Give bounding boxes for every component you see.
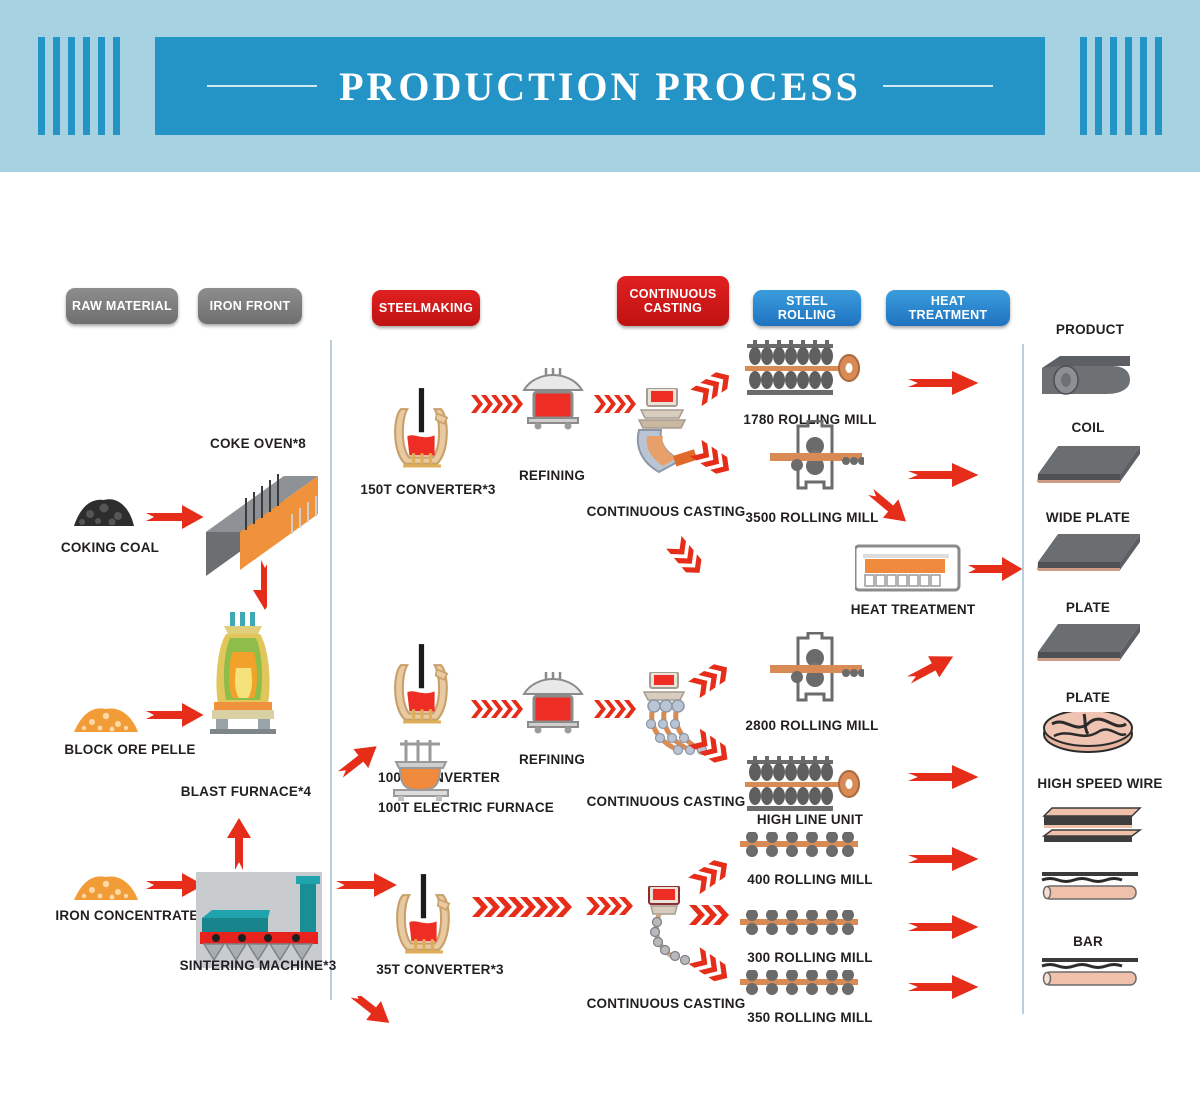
product-wide-plate-icon (1036, 444, 1144, 491)
arrow-iron-to-35t-converter (336, 996, 398, 1063)
chevrons-caster3-to-400 (686, 848, 740, 903)
stage-pill-raw-material[interactable]: RAW MATERIAL (66, 288, 178, 324)
product-bar-icon-1 (1040, 872, 1142, 907)
header-stripe (83, 37, 90, 135)
stage-label: IRON FRONT (210, 299, 291, 313)
product-coil-icon (1038, 354, 1134, 403)
electric-furnace-100t-label: 100T ELECTRIC FURNACE (378, 800, 554, 815)
converter-35t-label: 35T CONVERTER*3 (376, 962, 504, 977)
process-diagram: RAW MATERIAL IRON FRONT STEELMAKING CONT… (0, 172, 1200, 1110)
product-plate-label-2: PLATE (1066, 690, 1110, 705)
stage-label-line1: CONTINUOUS (629, 287, 716, 301)
product-bar-icon-2 (1040, 958, 1142, 993)
stage-label-line2: CASTING (644, 301, 702, 315)
refining-top-icon (522, 368, 586, 439)
product-heading: PRODUCT (1056, 322, 1124, 337)
rolling-mill-300-label: 300 ROLLING MILL (747, 950, 872, 965)
product-bar-label: BAR (1073, 934, 1103, 949)
chevrons-caster3-to-350 (686, 942, 742, 1001)
product-plate-icon-2 (1036, 622, 1144, 669)
arrow-300-to-bar (908, 912, 980, 947)
arrow-1780-to-coil (908, 368, 980, 403)
refining-mid-icon (522, 672, 586, 743)
arrow-400-to-billet (908, 844, 980, 879)
page-title: PRODUCTION PROCESS (339, 63, 861, 110)
coke-oven-label: COKE OVEN*8 (210, 436, 306, 451)
product-high-speed-wire-label: HIGH SPEED WIRE (1037, 776, 1162, 791)
converter-150t-icon (390, 386, 454, 473)
electric-furnace-100t-icon (392, 740, 454, 809)
continuous-casting-label-2: CONTINUOUS CASTING (587, 794, 746, 809)
continuous-casting-label-1: CONTINUOUS CASTING (587, 504, 746, 519)
header-stripe (38, 37, 45, 135)
title-rule-right (883, 85, 993, 87)
arrow-3500-to-heat-treatment (862, 484, 926, 549)
refining-top-label: REFINING (519, 468, 585, 483)
heat-treatment-icon (855, 544, 963, 601)
arrow-2800-to-plate (905, 634, 973, 699)
stage-pill-steel-rolling[interactable]: STEEL ROLLING (753, 290, 861, 326)
rolling-mill-350-label: 350 ROLLING MILL (747, 1010, 872, 1025)
header-stripes-right (1080, 37, 1162, 135)
blast-furnace-label: BLAST FURNACE*4 (181, 784, 312, 799)
header-stripe (1095, 37, 1102, 135)
converter-35t-icon (392, 872, 456, 959)
header-stripe (98, 37, 105, 135)
arrow-iron-to-electric-furnace (336, 870, 398, 905)
chevrons-35t-out (472, 896, 584, 923)
product-coil-label: COIL (1071, 420, 1104, 435)
stage-pill-continuous-casting[interactable]: CONTINUOUS CASTING (617, 276, 729, 326)
page-header: PRODUCTION PROCESS (0, 0, 1200, 172)
converter-150t-label: 150T CONVERTER*3 (360, 482, 495, 497)
header-stripe (68, 37, 75, 135)
header-stripes-left (38, 37, 120, 135)
rolling-mill-350-icon (740, 970, 866, 1003)
high-line-unit-label: HIGH LINE UNIT (757, 812, 863, 827)
block-ore-pelle-label: BLOCK ORE PELLE (64, 742, 195, 757)
chevrons-caster3-to-300 (689, 904, 741, 931)
header-stripe (1155, 37, 1162, 135)
rolling-mill-2800-label: 2800 ROLLING MILL (745, 718, 878, 733)
divider-product (1022, 344, 1024, 1014)
header-stripe (53, 37, 60, 135)
product-billet-icon (1040, 806, 1144, 851)
divider-raw-steelmaking (330, 340, 332, 1000)
chevrons-caster2-to-2800 (686, 652, 740, 707)
title-rule-left (207, 85, 317, 87)
blast-furnace-icon (208, 612, 278, 743)
chevrons-35t-to-caster3 (586, 896, 638, 921)
product-wide-plate-label: WIDE PLATE (1046, 510, 1130, 525)
header-stripe (1140, 37, 1147, 135)
header-title-bar: PRODUCTION PROCESS (155, 37, 1045, 135)
chevrons-row2-to-refining (471, 699, 527, 724)
block-ore-pelle-icon (72, 700, 142, 743)
arrow-ore-to-blastfurnace (146, 700, 204, 735)
header-stripe (1125, 37, 1132, 135)
rolling-mill-3500-icon (768, 420, 864, 501)
arrow-sinter-to-blastfurnace (224, 808, 256, 875)
chevrons-150t-to-refining (471, 394, 527, 419)
sintering-machine-label: SINTERING MACHINE*3 (180, 958, 337, 973)
chevrons-caster1-to-3500 (688, 434, 742, 493)
rolling-mill-400-icon (740, 832, 866, 865)
product-plate-icon-1 (1036, 532, 1144, 579)
rolling-mill-2800-icon (768, 632, 864, 713)
iron-concentrate-icon (72, 868, 142, 911)
rolling-mill-400-label: 400 ROLLING MILL (747, 872, 872, 887)
product-plate-label-1: PLATE (1066, 600, 1110, 615)
stage-pill-steelmaking[interactable]: STEELMAKING (372, 290, 480, 326)
rolling-mill-1780-icon (745, 340, 869, 405)
coking-coal-icon (72, 492, 140, 537)
product-high-speed-wire-icon (1042, 712, 1136, 761)
header-stripe (1080, 37, 1087, 135)
stage-label: STEEL ROLLING (759, 294, 855, 323)
stage-label: HEAT TREATMENT (892, 294, 1004, 323)
arrow-coal-to-oven (146, 502, 204, 537)
header-stripe (113, 37, 120, 135)
coking-coal-label: COKING COAL (61, 540, 159, 555)
stage-label: RAW MATERIAL (72, 299, 172, 313)
header-stripe (1110, 37, 1117, 135)
iron-concentrate-label: IRON CONCENTRATE (55, 908, 198, 923)
stage-label: STEELMAKING (379, 301, 473, 315)
arrow-heat-treatment-to-plate (968, 554, 1024, 589)
converter-100t-icon (390, 642, 454, 729)
rolling-mill-3500-label: 3500 ROLLING MILL (745, 510, 878, 525)
chevrons-caster1-to-1780 (688, 360, 742, 415)
chevrons-caster2-to-high-line (686, 724, 744, 783)
arrow-350-to-bar-2 (908, 972, 980, 1007)
rolling-mill-300-icon (740, 910, 866, 943)
chevrons-caster1-to-heat-line (660, 530, 720, 595)
stage-pill-iron-front[interactable]: IRON FRONT (198, 288, 302, 324)
stage-pill-heat-treatment[interactable]: HEAT TREATMENT (886, 290, 1010, 326)
heat-treatment-label: HEAT TREATMENT (851, 602, 976, 617)
refining-mid-label: REFINING (519, 752, 585, 767)
arrow-high-line-to-wire (908, 762, 980, 797)
